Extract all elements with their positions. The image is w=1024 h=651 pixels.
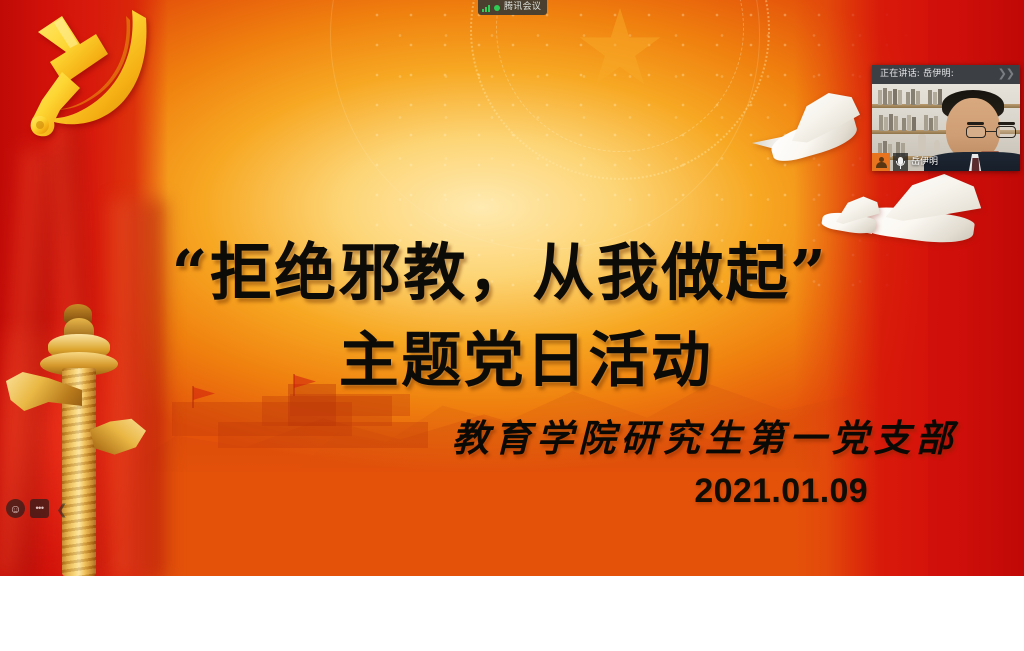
slide-outer-area (0, 576, 1024, 651)
pen-glyph: ☺ (9, 503, 21, 515)
person-eyebrow-right (998, 122, 1015, 125)
participant-name-label: 岳伊明 (911, 158, 938, 167)
green-status-dot-icon (494, 5, 500, 11)
previous-slide-icon[interactable]: ❮ (54, 502, 68, 516)
slide-title-sub: 主题党日活动 (14, 312, 1024, 399)
organization-name: 教育学院研究生第一党支部 (0, 408, 958, 462)
signal-bars-icon (482, 4, 490, 12)
more-options-icon[interactable]: ••• (30, 499, 49, 518)
meeting-video-panel[interactable]: 正在讲话: 岳伊明: ❯❯ (872, 65, 1020, 171)
participant-avatar-icon (872, 153, 890, 171)
participant-nametag: 岳伊明 (872, 153, 943, 171)
decor-vase (918, 134, 926, 152)
presenter-controls-toolbar[interactable]: ☺ ••• ❮ (6, 499, 68, 518)
microphone-icon[interactable] (893, 153, 908, 171)
active-speaker-status: 正在讲话: 岳伊明: (880, 70, 954, 79)
event-date: 2021.01.09 (0, 472, 868, 511)
tencent-meeting-badge[interactable]: 腾讯会议 (478, 0, 547, 15)
menu-glyph: ••• (36, 504, 44, 513)
annotation-pen-icon[interactable]: ☺ (6, 499, 25, 518)
video-panel-header: 正在讲话: 岳伊明: ❯❯ (872, 65, 1020, 84)
video-feed[interactable]: 岳伊明 (872, 84, 1020, 171)
collapse-chevron-icon[interactable]: ❯❯ (998, 69, 1014, 80)
meeting-app-label: 腾讯会议 (504, 3, 541, 12)
presentation-slide[interactable]: “拒绝邪教，从我做起” 主题党日活动 教育学院研究生第一党支部 2021.01.… (0, 0, 1024, 576)
person-face (946, 98, 1000, 160)
slide-text-group: “拒绝邪教，从我做起” 主题党日活动 教育学院研究生第一党支部 2021.01.… (0, 0, 1024, 576)
eyeglasses-icon (966, 126, 1016, 138)
slide-title-main: “拒绝邪教，从我做起” (0, 222, 1012, 312)
person-eyebrow-left (967, 122, 984, 125)
person-tie (971, 158, 980, 171)
